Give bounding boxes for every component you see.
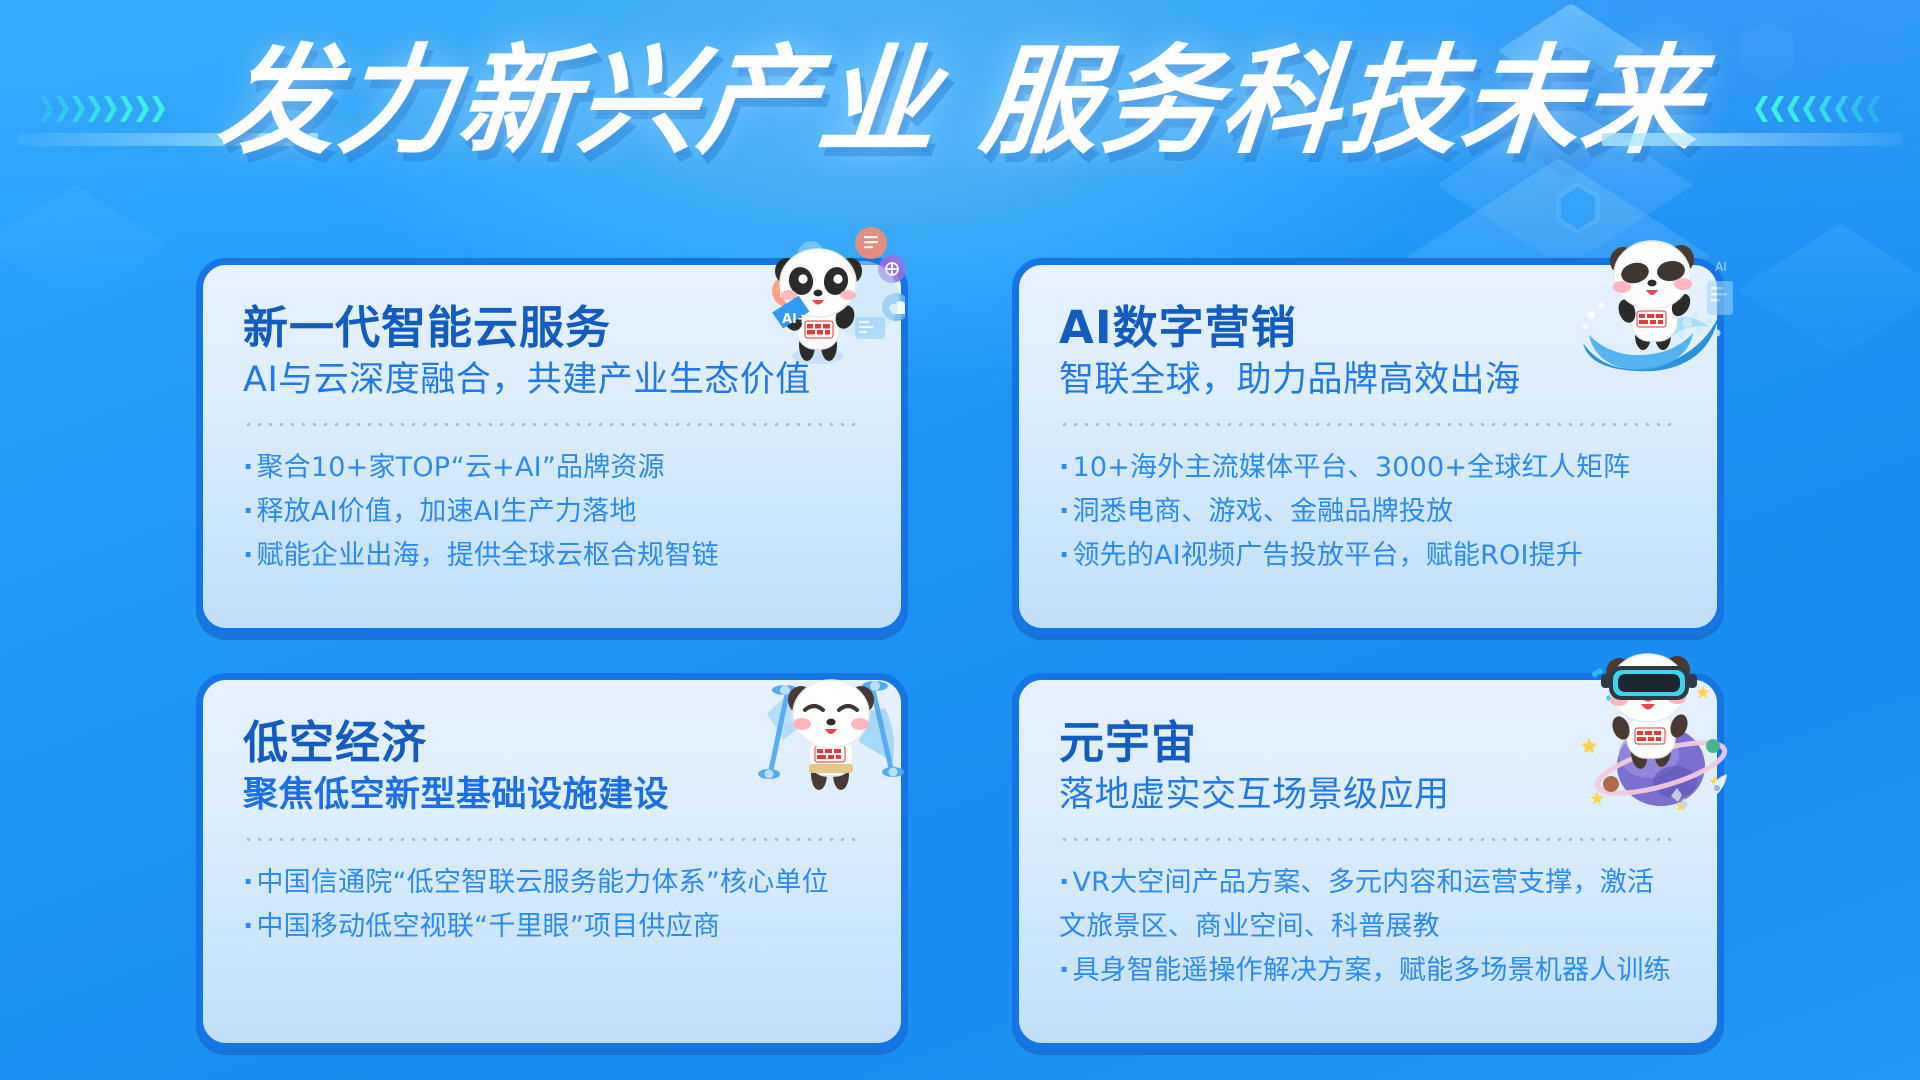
card-subtitle: 落地虚实交互场景级应用 bbox=[1059, 774, 1677, 818]
card-subtitle: AI与云深度融合，共建产业生态价值 bbox=[243, 359, 861, 403]
list-item: 释放AI价值，加速AI生产力落地 bbox=[243, 490, 861, 534]
card-bullet-list: 聚合10+家TOP“云+AI”品牌资源 释放AI价值，加速AI生产力落地 赋能企… bbox=[243, 446, 861, 577]
feature-card-grid: AI+ 新一代智能云服务 AI与云深度融合，共建产业生态价值 聚合10+家TOP… bbox=[196, 258, 1724, 1050]
list-item: 中国移动低空视联“千里眼”项目供应商 bbox=[243, 905, 861, 949]
card-title: 元宇宙 bbox=[1059, 718, 1677, 768]
page-title: 发力新兴产业 服务科技未来 bbox=[0, 38, 1920, 165]
chevron-left-arrows-icon bbox=[1755, 96, 1880, 122]
card-title: 新一代智能云服务 bbox=[243, 303, 861, 353]
list-item: VR大空间产品方案、多元内容和运营支撑，激活文旅景区、商业空间、科普展教 bbox=[1059, 861, 1677, 948]
card-subtitle: 聚焦低空新型基础设施建设 bbox=[243, 774, 861, 818]
card-low-altitude-economy[interactable]: 低空经济 聚焦低空新型基础设施建设 中国信通院“低空智联云服务能力体系”核心单位… bbox=[196, 673, 908, 1050]
list-item: 领先的AI视频广告投放平台，赋能ROI提升 bbox=[1059, 534, 1677, 578]
header: 发力新兴产业 服务科技未来 bbox=[0, 0, 1920, 215]
card-bullet-list: VR大空间产品方案、多元内容和运营支撑，激活文旅景区、商业空间、科普展教 具身智… bbox=[1059, 861, 1677, 992]
card-divider bbox=[1059, 838, 1677, 841]
card-metaverse[interactable]: 元宇宙 落地虚实交互场景级应用 VR大空间产品方案、多元内容和运营支撑，激活文旅… bbox=[1012, 673, 1724, 1050]
list-item: 聚合10+家TOP“云+AI”品牌资源 bbox=[243, 446, 861, 490]
list-item: 10+海外主流媒体平台、3000+全球红人矩阵 bbox=[1059, 446, 1677, 490]
card-divider bbox=[243, 423, 861, 426]
isometric-cube-icon bbox=[1780, 230, 1900, 350]
card-bullet-list: 中国信通院“低空智联云服务能力体系”核心单位 中国移动低空视联“千里眼”项目供应… bbox=[243, 861, 861, 948]
list-item: 赋能企业出海，提供全球云枢合规智链 bbox=[243, 534, 861, 578]
card-divider bbox=[243, 838, 861, 841]
card-subtitle: 智联全球，助力品牌高效出海 bbox=[1059, 359, 1677, 403]
card-bullet-list: 10+海外主流媒体平台、3000+全球红人矩阵 洞悉电商、游戏、金融品牌投放 领… bbox=[1059, 446, 1677, 577]
card-title: 低空经济 bbox=[243, 718, 861, 768]
card-new-generation-intelligent-cloud-service[interactable]: AI+ 新一代智能云服务 AI与云深度融合，共建产业生态价值 聚合10+家TOP… bbox=[196, 258, 908, 635]
card-ai-digital-marketing[interactable]: AI AI数字营销 智联全球，助力品牌高效出海 10+海外主流媒体平台、3000… bbox=[1012, 258, 1724, 635]
list-item: 中国信通院“低空智联云服务能力体系”核心单位 bbox=[243, 861, 861, 905]
title-underbar-right bbox=[1602, 133, 1902, 146]
list-item: 洞悉电商、游戏、金融品牌投放 bbox=[1059, 490, 1677, 534]
card-divider bbox=[1059, 423, 1677, 426]
card-title: AI数字营销 bbox=[1059, 303, 1677, 353]
list-item: 具身智能遥操作解决方案，赋能多场景机器人训练 bbox=[1059, 949, 1677, 993]
